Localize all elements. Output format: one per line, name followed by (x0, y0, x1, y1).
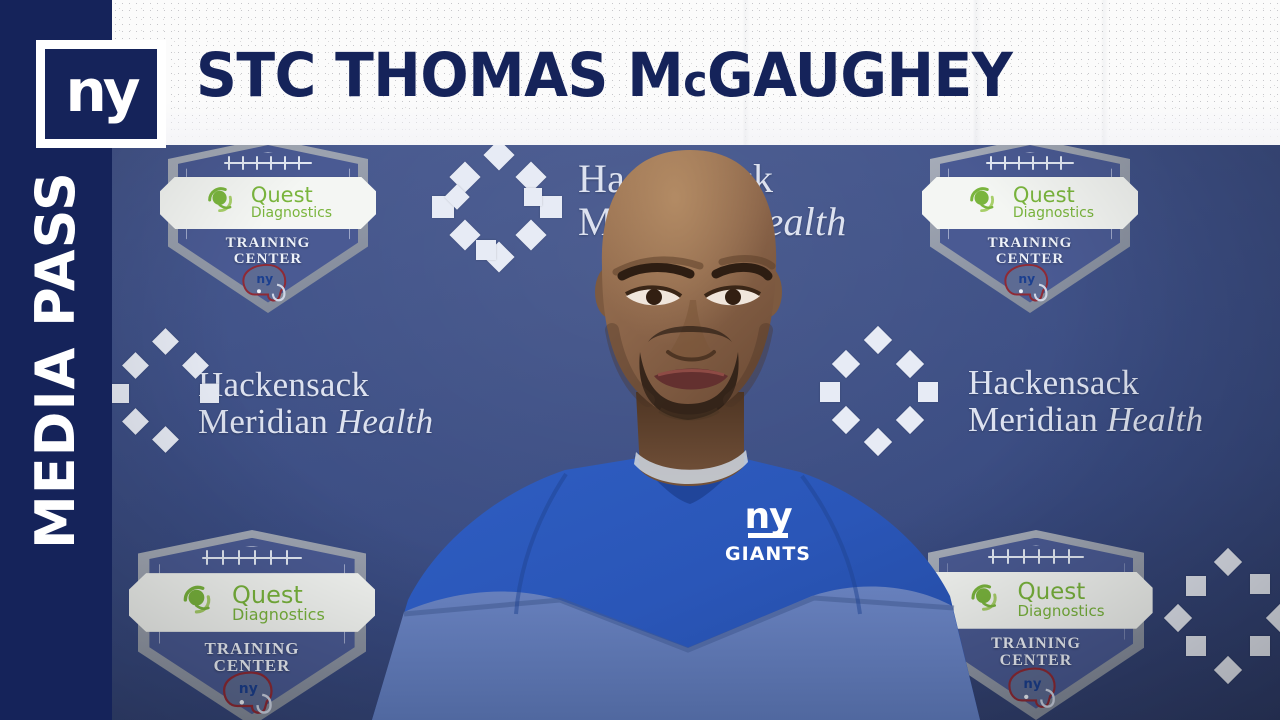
svg-text:ny: ny (65, 59, 139, 125)
svg-text:GIANTS: GIANTS (725, 543, 811, 565)
title-small-c: c (683, 56, 707, 107)
title-suffix: GAUGHEY (707, 40, 1012, 111)
svg-text:ny: ny (744, 496, 792, 537)
media-pass-label: MEDIA PASS (29, 171, 83, 549)
video-frame: Hackensack Meridian Health Hackensack Me… (0, 0, 1280, 720)
coach-head (602, 150, 776, 420)
giants-logo-square: ny (45, 49, 157, 139)
page-title: STC THOMAS McGAUGHEY (196, 45, 1012, 112)
title-prefix: STC THOMAS M (196, 40, 683, 111)
ny-logo-icon: ny (55, 59, 147, 129)
giants-logo-badge: ny (36, 40, 166, 148)
